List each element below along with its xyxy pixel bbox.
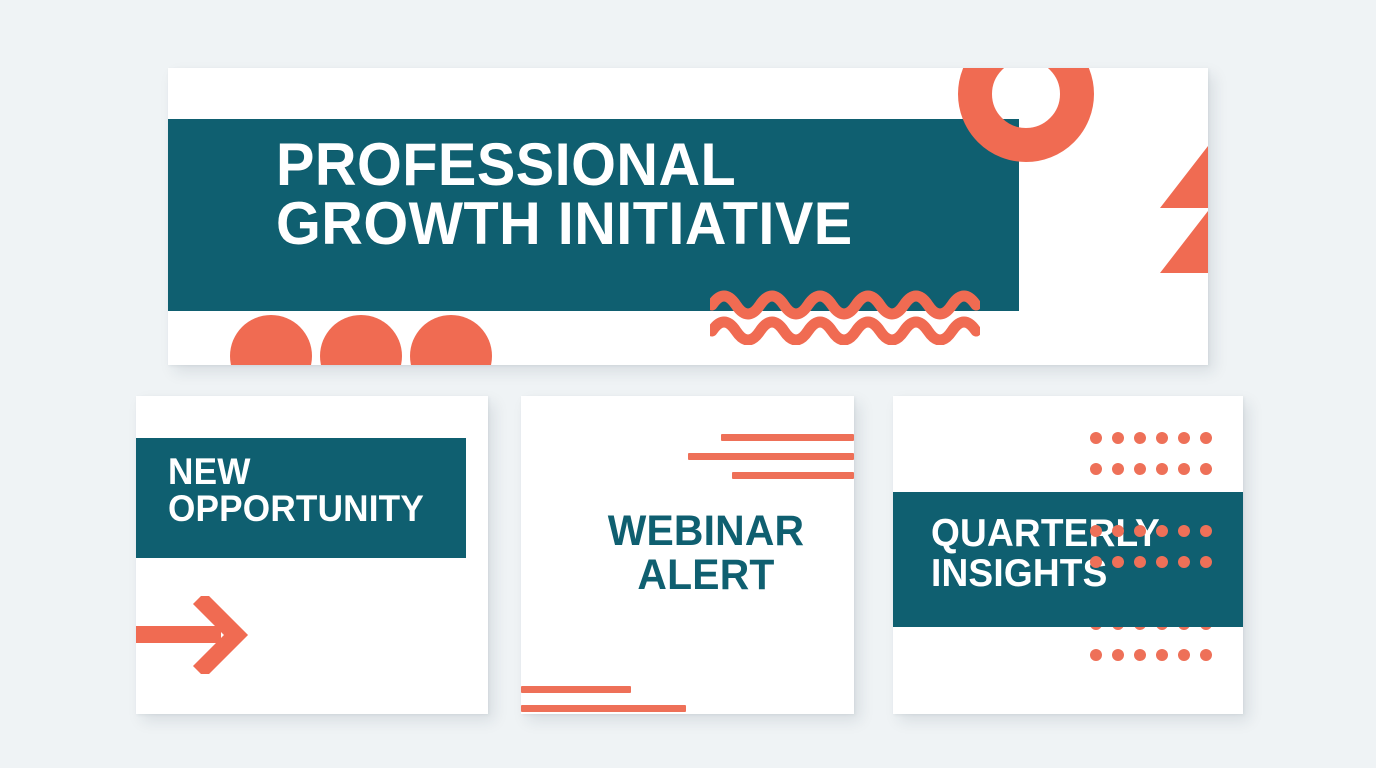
- dot: [1200, 432, 1212, 444]
- dot: [1178, 463, 1190, 475]
- stripe-line: [732, 472, 854, 479]
- dot: [1156, 432, 1168, 444]
- dot: [1090, 649, 1102, 661]
- triangle-icon: [1160, 211, 1208, 273]
- dot: [1200, 649, 1212, 661]
- arrow-right-icon: [136, 596, 263, 674]
- dot: [1112, 463, 1124, 475]
- dot: [1200, 463, 1212, 475]
- banner-title: PROFESSIONAL GROWTH INITIATIVE: [276, 136, 967, 254]
- card-quarterly-insights[interactable]: QUARTERLY INSIGHTS: [893, 396, 1243, 714]
- wave-icon: [710, 283, 980, 345]
- stripe-line: [721, 434, 854, 441]
- stripe-line: [521, 686, 631, 693]
- dot: [1134, 463, 1146, 475]
- card-webinar-alert[interactable]: WEBINAR ALERT: [521, 396, 854, 714]
- dot: [1178, 432, 1190, 444]
- card-new-opportunity[interactable]: NEW OPPORTUNITY: [136, 396, 488, 714]
- dot: [1178, 649, 1190, 661]
- design-canvas: PROFESSIONAL GROWTH INITIATIVE NEW OPPOR…: [0, 0, 1376, 768]
- stripe-line: [688, 453, 854, 460]
- dot: [1090, 463, 1102, 475]
- triangle-icon: [1160, 146, 1208, 208]
- dot: [1112, 649, 1124, 661]
- banner-card[interactable]: PROFESSIONAL GROWTH INITIATIVE: [168, 68, 1208, 365]
- circle-icon: [230, 315, 312, 365]
- circle-icon: [320, 315, 402, 365]
- stripe-line: [521, 705, 686, 712]
- dot: [1134, 432, 1146, 444]
- card-title-webinar-alert: WEBINAR ALERT: [578, 509, 835, 598]
- circle-icon: [410, 315, 492, 365]
- card-title-new-opportunity: NEW OPPORTUNITY: [168, 453, 453, 527]
- card-title-quarterly-insights: QUARTERLY INSIGHTS: [931, 514, 1207, 594]
- dot: [1112, 432, 1124, 444]
- dot: [1156, 463, 1168, 475]
- dot: [1134, 649, 1146, 661]
- dot: [1090, 432, 1102, 444]
- dot: [1156, 649, 1168, 661]
